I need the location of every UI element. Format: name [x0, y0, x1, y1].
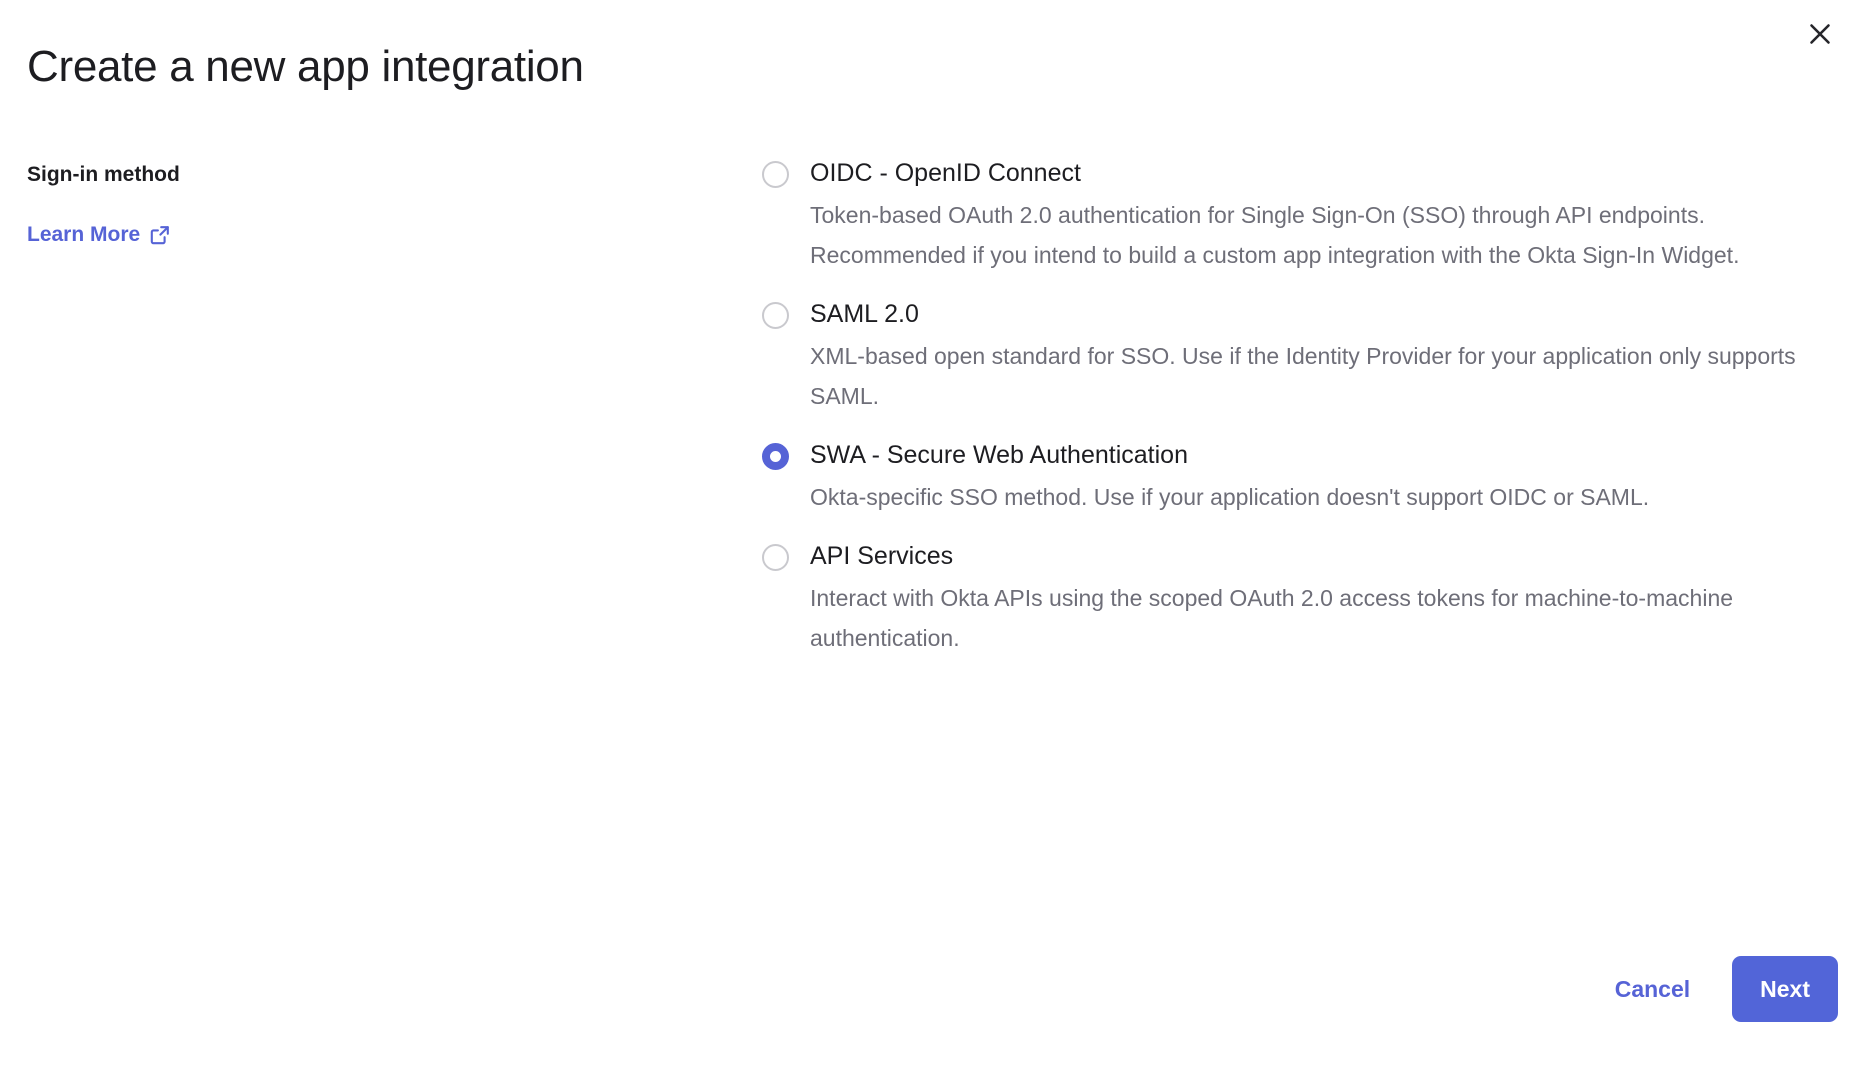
radio-api-services[interactable]: [762, 544, 789, 571]
sign-in-method-radio-group[interactable]: OIDC - OpenID Connect Token-based OAuth …: [762, 156, 1832, 658]
sign-in-method-section: Sign-in method Learn More: [27, 161, 547, 247]
option-swa-description: Okta-specific SSO method. Use if your ap…: [810, 477, 1820, 517]
learn-more-link[interactable]: Learn More: [27, 222, 171, 247]
close-dialog-button[interactable]: [1798, 12, 1842, 56]
create-app-integration-dialog: Create a new app integration Sign-in met…: [0, 0, 1868, 1066]
radio-swa[interactable]: [762, 443, 789, 470]
option-swa[interactable]: SWA - Secure Web Authentication Okta-spe…: [762, 438, 1832, 517]
option-api-services-title: API Services: [810, 539, 1832, 573]
option-saml-description: XML-based open standard for SSO. Use if …: [810, 336, 1820, 416]
radio-saml[interactable]: [762, 302, 789, 329]
sign-in-method-label: Sign-in method: [27, 161, 547, 188]
next-button[interactable]: Next: [1732, 956, 1838, 1022]
option-saml[interactable]: SAML 2.0 XML-based open standard for SSO…: [762, 297, 1832, 416]
option-api-services[interactable]: API Services Interact with Okta APIs usi…: [762, 539, 1832, 658]
page-title: Create a new app integration: [27, 42, 584, 93]
option-swa-title: SWA - Secure Web Authentication: [810, 438, 1832, 472]
radio-oidc[interactable]: [762, 161, 789, 188]
option-oidc[interactable]: OIDC - OpenID Connect Token-based OAuth …: [762, 156, 1832, 275]
cancel-button[interactable]: Cancel: [1613, 972, 1692, 1007]
close-icon: [1807, 21, 1833, 47]
external-link-icon: [149, 223, 171, 246]
option-api-services-description: Interact with Okta APIs using the scoped…: [810, 578, 1820, 658]
learn-more-label: Learn More: [27, 222, 140, 247]
option-saml-title: SAML 2.0: [810, 297, 1832, 331]
option-oidc-title: OIDC - OpenID Connect: [810, 156, 1832, 190]
option-oidc-description: Token-based OAuth 2.0 authentication for…: [810, 195, 1820, 275]
dialog-footer: Cancel Next: [1613, 956, 1838, 1022]
